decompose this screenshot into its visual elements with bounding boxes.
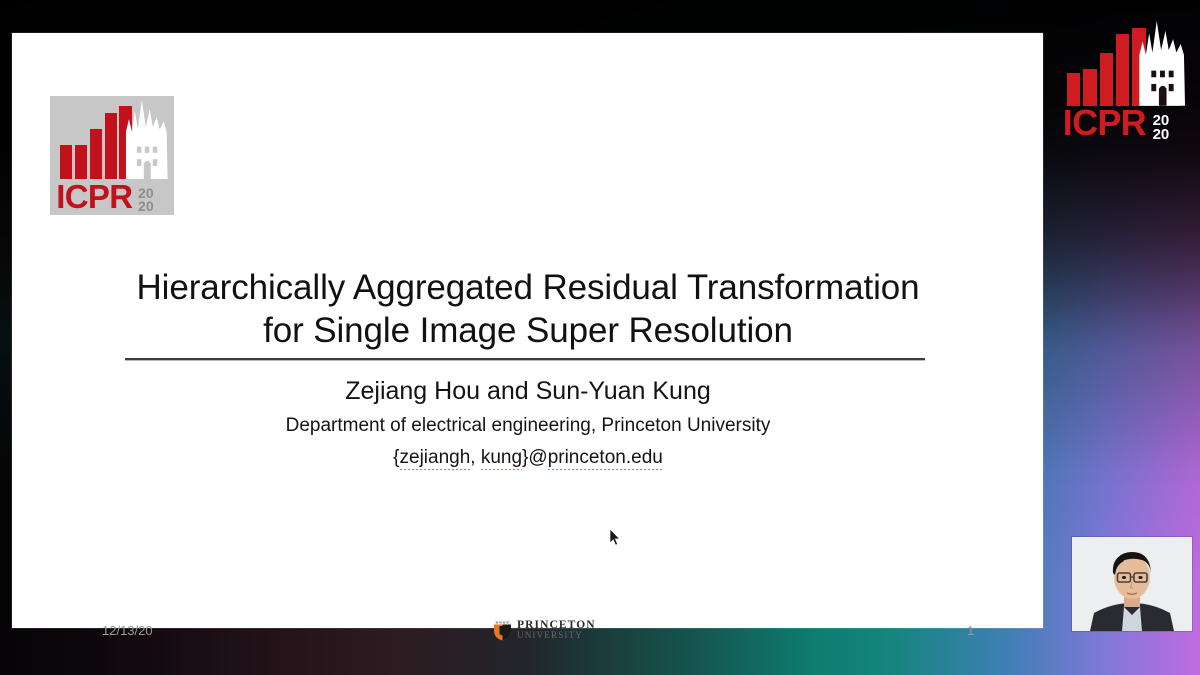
- email-brace-close: }@: [522, 447, 548, 468]
- slide-title: Hierarchically Aggregated Residual Trans…: [72, 267, 984, 352]
- princeton-university-logo: PRINCETON UNIVERSITY: [493, 617, 596, 643]
- icpr-corner-year-bottom: 20: [1153, 128, 1188, 142]
- presentation-screen: ICPR 20 20 Hierarchically Aggregated Res…: [0, 0, 1200, 675]
- email-line: {zejiangh, kung}@princeton.edu: [72, 447, 984, 469]
- icpr-year-badge: 20 20: [138, 177, 170, 213]
- presenter-video-thumbnail[interactable]: [1072, 537, 1192, 631]
- mouse-cursor: [610, 529, 622, 547]
- title-line-1: Hierarchically Aggregated Residual Trans…: [72, 267, 984, 310]
- affiliation-line: Department of electrical engineering, Pr…: [72, 415, 984, 437]
- princeton-line-2: UNIVERSITY: [517, 631, 596, 640]
- icpr-wordmark: ICPR: [56, 179, 143, 212]
- icpr-year-bottom: 20: [138, 200, 170, 213]
- icpr-corner-wordmark: ICPR: [1063, 106, 1158, 141]
- author-names: Zejiang Hou and Sun-Yuan Kung: [72, 377, 984, 406]
- title-line-2: for Single Image Super Resolution: [72, 310, 984, 353]
- title-divider-rule: [125, 358, 925, 361]
- email-separator: ,: [470, 447, 481, 468]
- presenter-portrait: [1072, 537, 1192, 631]
- footer-page-number: 1: [967, 623, 974, 638]
- duomo-cathedral-icon: [122, 96, 172, 179]
- email-domain: princeton.edu: [548, 447, 663, 470]
- email-brace-open: {: [393, 447, 399, 468]
- icpr-conference-logo: ICPR 20 20: [50, 96, 174, 215]
- duomo-cathedral-corner-icon: [1135, 18, 1189, 106]
- footer-date: 12/13/20: [102, 623, 153, 638]
- email-user-1: zejiangh: [400, 447, 471, 470]
- slide-canvas[interactable]: ICPR 20 20 Hierarchically Aggregated Res…: [12, 33, 1043, 628]
- icpr-corner-logo: ICPR 20 20: [1056, 18, 1192, 144]
- email-user-2: kung: [481, 447, 522, 470]
- princeton-shield-icon: [493, 619, 512, 641]
- icpr-corner-year-badge: 20 20: [1153, 104, 1188, 142]
